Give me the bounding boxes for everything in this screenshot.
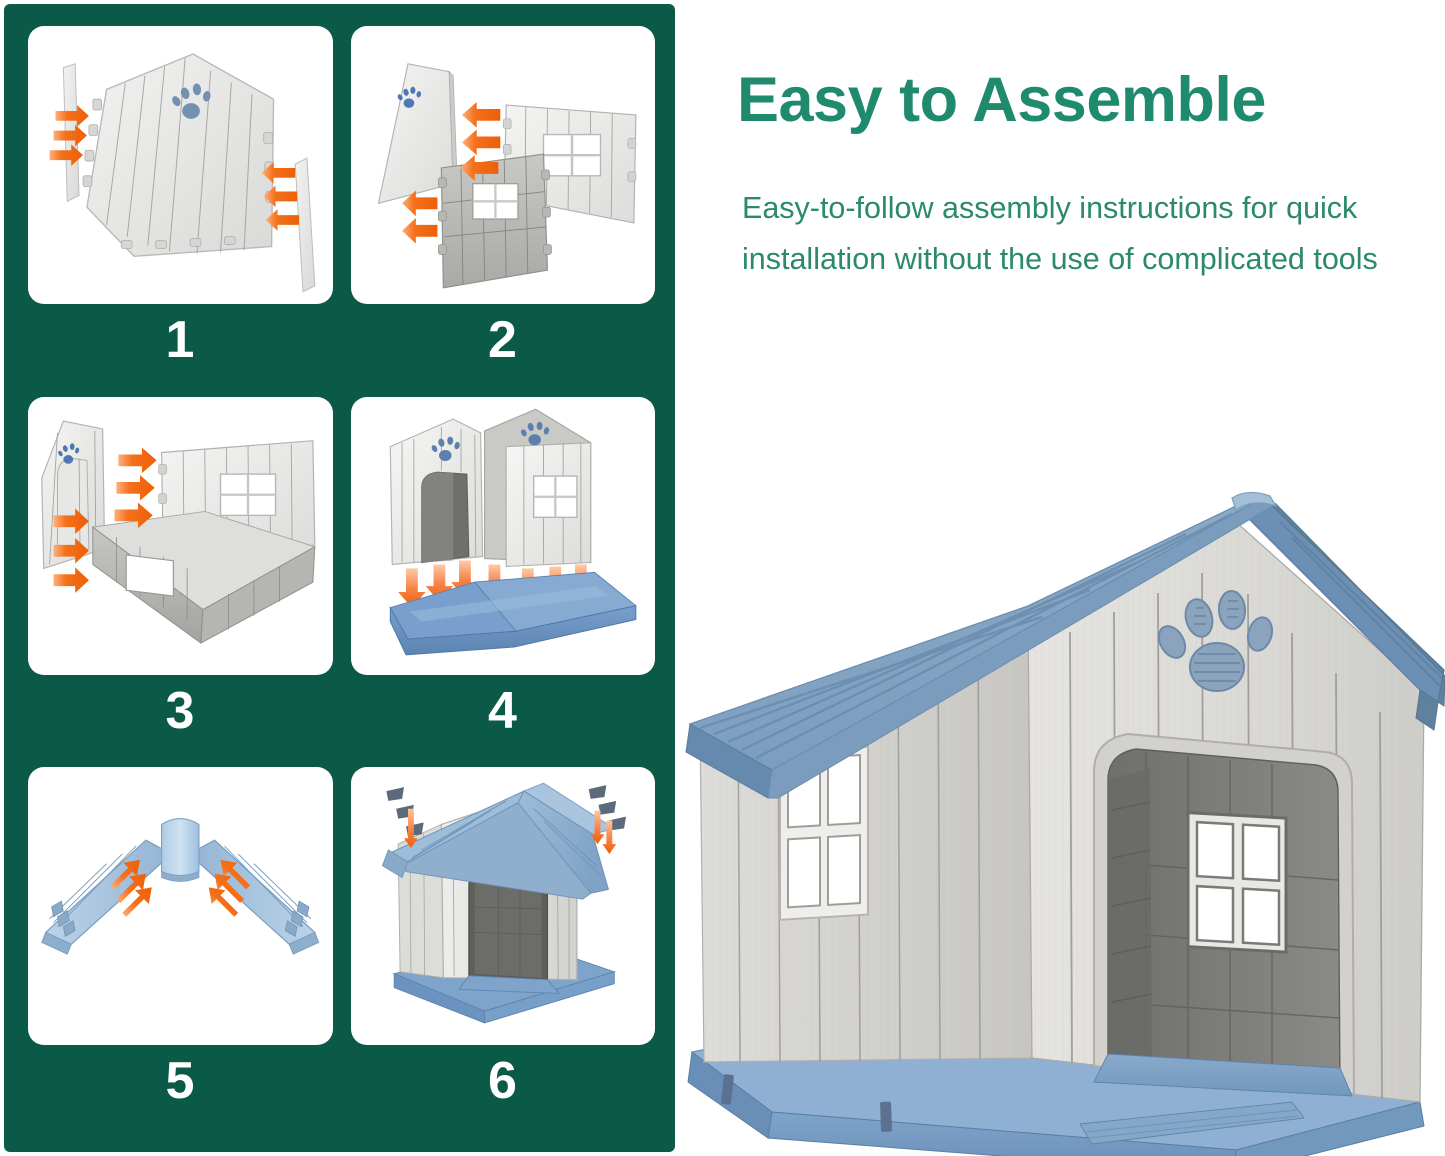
step-6-number: 6 bbox=[488, 1055, 517, 1107]
page-title: Easy to Assemble bbox=[737, 64, 1417, 136]
page-subcopy: Easy-to-follow assembly instructions for… bbox=[742, 183, 1414, 285]
right-trim-strip bbox=[295, 158, 315, 292]
base-floor-tray bbox=[390, 572, 636, 655]
assembly-step-1: 1 bbox=[28, 26, 333, 397]
window-cutout bbox=[221, 474, 276, 515]
step-2-illustration-card bbox=[351, 26, 656, 304]
dog-house-render bbox=[676, 462, 1445, 1156]
step-2-illustration bbox=[351, 26, 656, 304]
step-4-illustration-card bbox=[351, 397, 656, 675]
step-5-number: 5 bbox=[166, 1055, 195, 1107]
window-cutout bbox=[126, 555, 173, 596]
assembly-step-6: 6 bbox=[351, 767, 656, 1138]
roof-panel-left bbox=[42, 841, 172, 955]
assembly-arrows-left bbox=[50, 105, 89, 166]
assembly-step-5: 5 bbox=[28, 767, 333, 1138]
step-5-illustration bbox=[28, 767, 333, 1045]
step-1-number: 1 bbox=[166, 314, 195, 366]
step-3-illustration bbox=[28, 397, 333, 675]
roof-ridge-cap bbox=[162, 819, 199, 882]
window-cutout bbox=[543, 135, 600, 176]
front-wall-panel bbox=[83, 54, 275, 256]
step-2-number: 2 bbox=[488, 314, 517, 366]
assembly-steps-panel: 1 bbox=[4, 4, 675, 1152]
door-opening bbox=[1094, 734, 1354, 1096]
assembly-step-2: 2 bbox=[351, 26, 656, 397]
step-3-number: 3 bbox=[166, 685, 195, 737]
step-6-illustration-card bbox=[351, 767, 656, 1045]
hero-product-image bbox=[676, 462, 1445, 1156]
step-1-illustration bbox=[28, 26, 333, 304]
step-4-illustration bbox=[351, 397, 656, 675]
side-wall-assembly bbox=[484, 409, 590, 566]
window-cutout bbox=[533, 476, 576, 517]
step-6-illustration bbox=[351, 767, 656, 1045]
assembly-step-3: 3 bbox=[28, 397, 333, 768]
window-cutout bbox=[472, 184, 517, 219]
step-1-illustration-card bbox=[28, 26, 333, 304]
assembly-step-4: 4 bbox=[351, 397, 656, 768]
assembly-arrows-right bbox=[262, 162, 299, 231]
step-5-illustration-card bbox=[28, 767, 333, 1045]
front-wall-with-door bbox=[390, 419, 482, 564]
step-3-illustration-card bbox=[28, 397, 333, 675]
interior-window bbox=[1188, 813, 1286, 952]
step-4-number: 4 bbox=[488, 685, 517, 737]
front-panel-dark-window bbox=[438, 154, 551, 288]
roof-panel-right bbox=[189, 841, 319, 955]
